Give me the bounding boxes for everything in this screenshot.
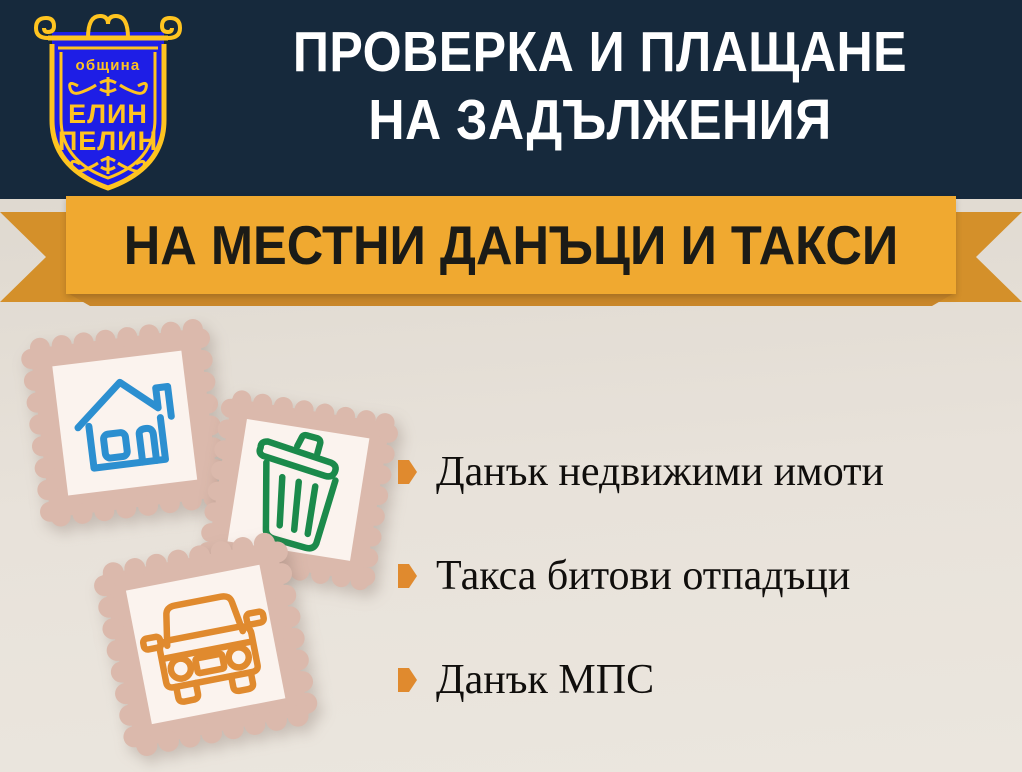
title-line-2: НА ЗАДЪЛЖЕНИЯ [239,86,961,154]
poster-canvas: община ЕЛИН ПЕЛИН ПРОВЕ [0,0,1022,772]
ribbon-main-band: НА МЕСТНИ ДАНЪЦИ И ТАКСИ [66,196,956,294]
ribbon-label: НА МЕСТНИ ДАНЪЦИ И ТАКСИ [102,196,921,294]
arrow-bullet-icon [398,668,417,692]
tax-type-list: Данък недвижими имоти Такса битови отпад… [398,420,1008,732]
poster-title: ПРОВЕРКА И ПЛАЩАНЕ НА ЗАДЪЛЖЕНИЯ [190,18,1010,154]
list-item[interactable]: Такса битови отпадъци [398,524,1008,628]
title-line-1: ПРОВЕРКА И ПЛАЩАНЕ [239,18,961,86]
logo-text-elin: ЕЛИН [68,99,148,129]
subtitle-ribbon: НА МЕСТНИ ДАНЪЦИ И ТАКСИ [0,196,1022,306]
stamp-vehicle [92,530,324,762]
arrow-bullet-icon [398,564,417,588]
arrow-bullet-icon [398,460,417,484]
logo-text-obshtina: община [76,57,141,74]
list-item[interactable]: Данък недвижими имоти [398,420,1008,524]
municipality-logo: община ЕЛИН ПЕЛИН [28,8,188,194]
list-item-label: Данък МПС [436,657,654,703]
list-item-label: Данък недвижими имоти [436,449,884,495]
list-item-label: Такса битови отпадъци [436,553,850,599]
ribbon-shadow [66,292,956,306]
logo-text-pelin: ПЕЛИН [58,126,158,156]
list-item[interactable]: Данък МПС [398,628,1008,732]
